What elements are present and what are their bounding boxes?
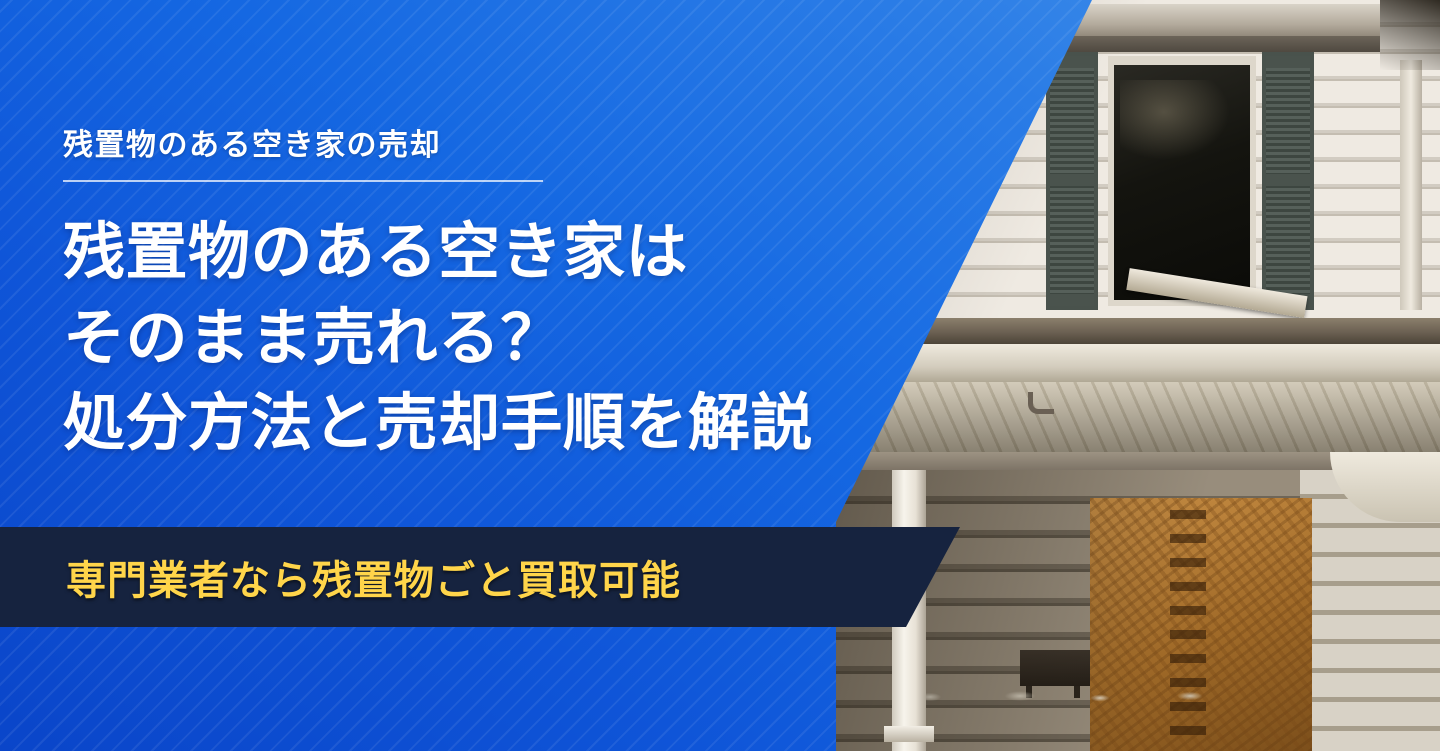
hero-banner: 残置物のある空き家の売却 残置物のある空き家は そのまま売れる？ 処分方法と売却… <box>0 0 1440 751</box>
headline-line-1: 残置物のある空き家は <box>63 210 943 296</box>
eyebrow-label: 残置物のある空き家の売却 <box>63 120 441 164</box>
eyebrow-divider <box>63 180 543 182</box>
ribbon-label: 専門業者なら残置物ごと買取可能 <box>66 548 681 606</box>
headline-line-3: 処分方法と売却手順を解説 <box>63 381 943 467</box>
headline-line-2: そのまま売れる？ <box>63 296 943 382</box>
banner-content: 残置物のある空き家の売却 残置物のある空き家は そのまま売れる？ 処分方法と売却… <box>0 0 1092 751</box>
ribbon-banner: 専門業者なら残置物ごと買取可能 <box>0 527 960 627</box>
headline: 残置物のある空き家は そのまま売れる？ 処分方法と売却手順を解説 <box>63 210 943 467</box>
